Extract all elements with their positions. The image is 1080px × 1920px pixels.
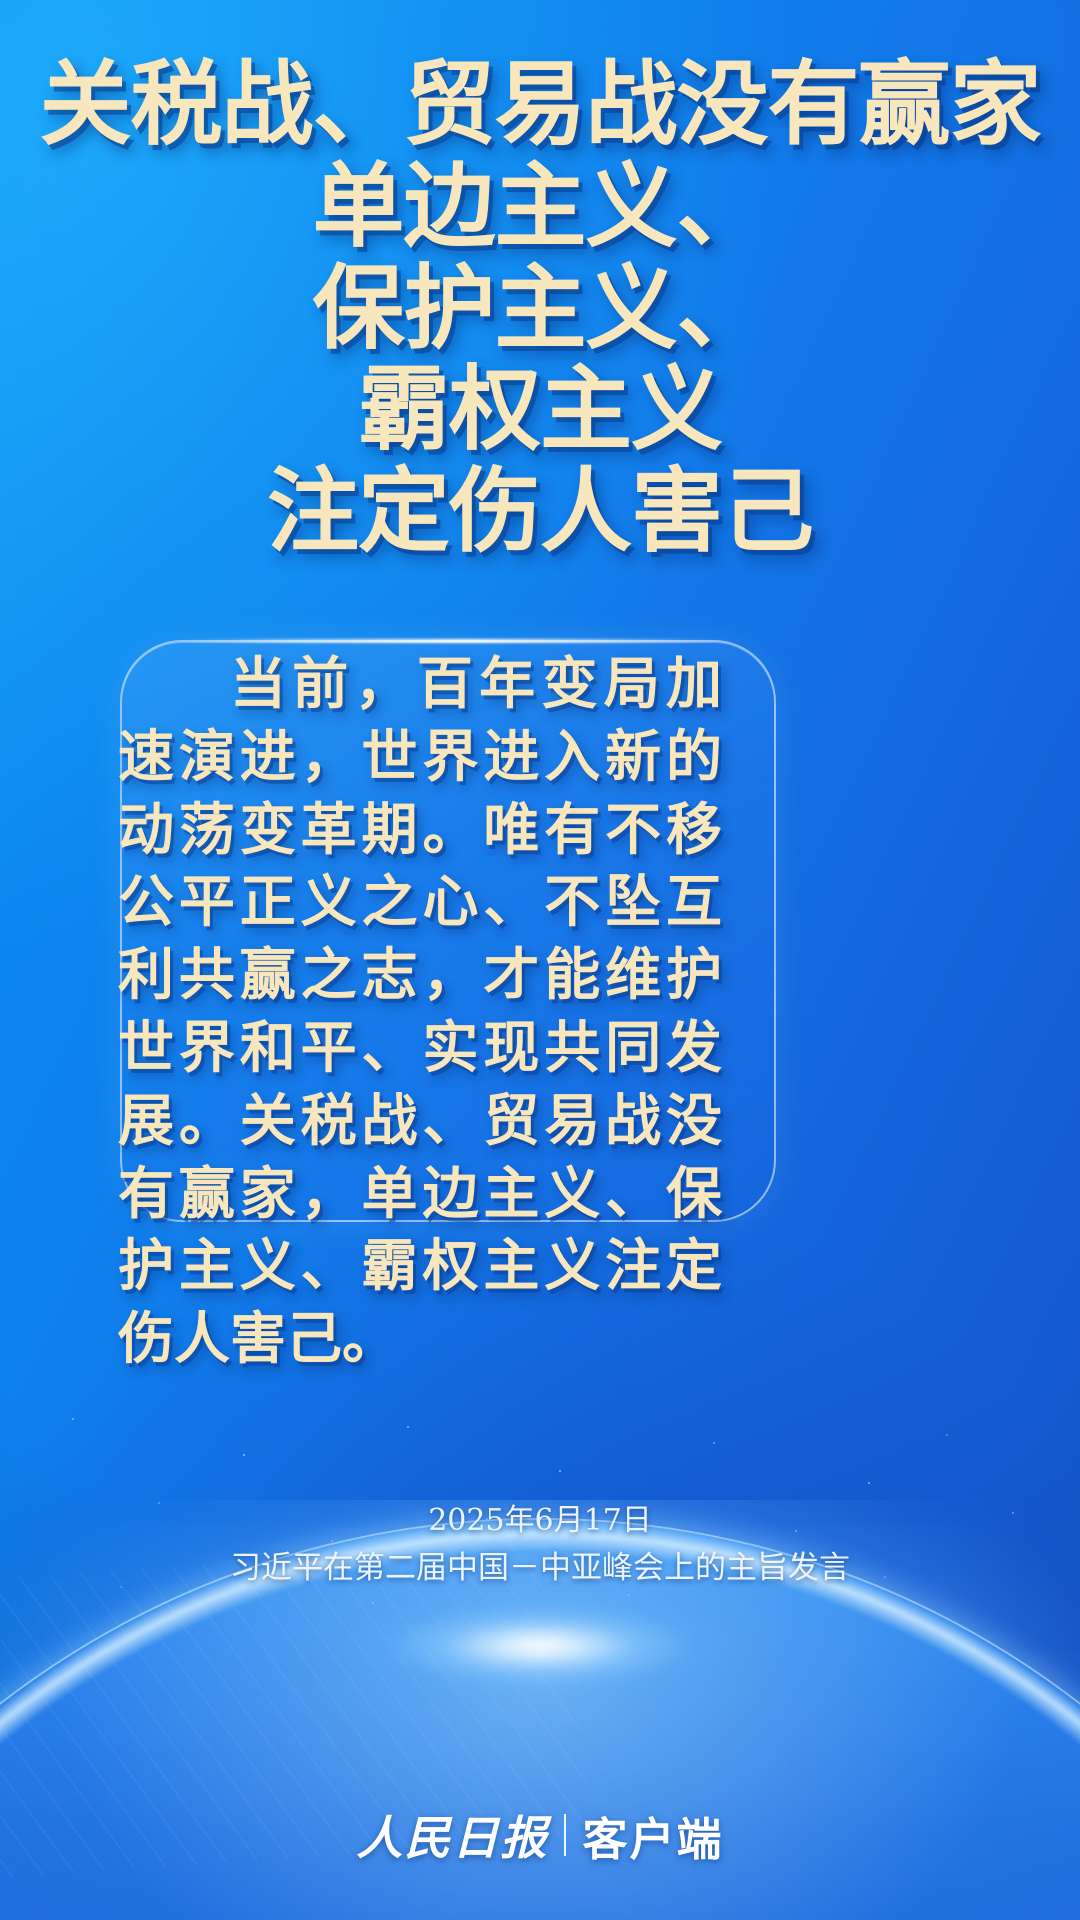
attribution-source: 习近平在第二届中国－中亚峰会上的主旨发言	[0, 1547, 1080, 1590]
earth-sunrise-flare	[325, 1590, 755, 1702]
logo-divider	[564, 1814, 566, 1856]
poster-canvas: 关税战、贸易战没有赢家 单边主义、 保护主义、 霸权主义 注定伤人害己 当前，百…	[0, 0, 1080, 1920]
quote-attribution: 2025年6月17日 习近平在第二届中国－中亚峰会上的主旨发言	[0, 1500, 1080, 1590]
attribution-date: 2025年6月17日	[0, 1500, 1080, 1541]
title-line-5: 注定伤人害己	[0, 465, 1080, 559]
quote-text: 当前，百年变局加速演进，世界进入新的动荡变革期。唯有不移公平正义之心、不坠互利共…	[118, 648, 722, 1376]
publisher-logo: 人民日报 客户端	[0, 1802, 1080, 1868]
title-line-1: 关税战、贸易战没有赢家	[0, 58, 1080, 152]
publisher-product: 客户端	[582, 1803, 723, 1868]
title-line-3: 保护主义、	[0, 262, 1080, 356]
title-line-4: 霸权主义	[0, 363, 1080, 457]
title-line-2: 单边主义、	[0, 160, 1080, 254]
publisher-name: 人民日报	[356, 1802, 548, 1868]
poster-title: 关税战、贸易战没有赢家 单边主义、 保护主义、 霸权主义 注定伤人害己	[0, 58, 1080, 559]
